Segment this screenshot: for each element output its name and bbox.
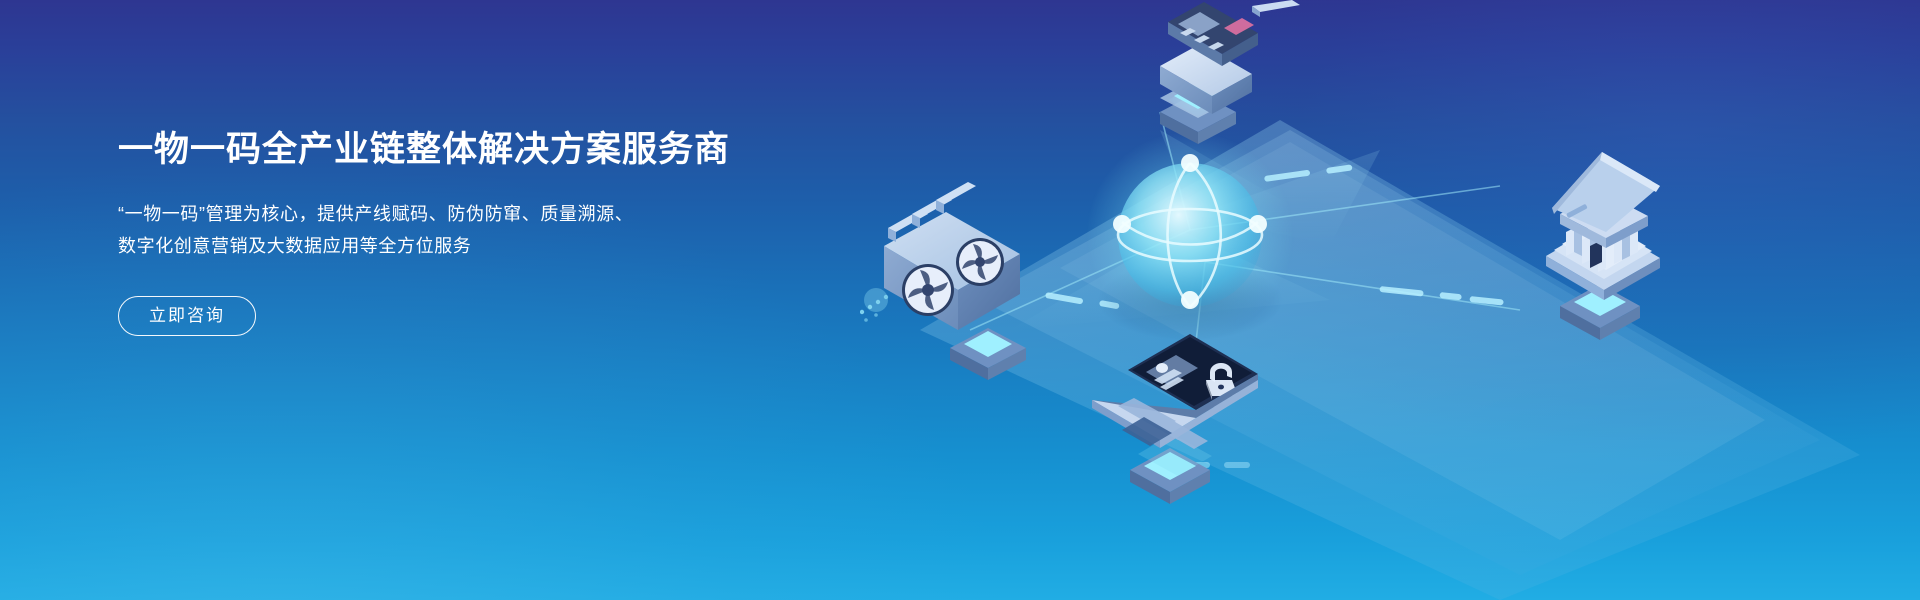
bank-building-icon — [1546, 152, 1660, 340]
hero-illustration — [860, 0, 1920, 600]
hero-subtitle-line-2: 数字化创意营销及大数据应用等全方位服务 — [118, 230, 838, 262]
airflow-dots — [860, 288, 888, 322]
hero-subtitle: “一物一码”管理为核心，提供产线赋码、防伪防窜、质量溯源、 数字化创意营销及大数… — [118, 198, 838, 262]
glowing-network-sphere — [1086, 131, 1294, 340]
hero-copy-block: 一物一码全产业链整体解决方案服务商 “一物一码”管理为核心，提供产线赋码、防伪防… — [118, 128, 838, 336]
consult-now-button[interactable]: 立即咨询 — [118, 296, 256, 336]
hero-banner: 一物一码全产业链整体解决方案服务商 “一物一码”管理为核心，提供产线赋码、防伪防… — [0, 0, 1920, 600]
hero-subtitle-line-1: “一物一码”管理为核心，提供产线赋码、防伪防窜、质量溯源、 — [118, 198, 838, 230]
isometric-platform — [920, 120, 1860, 600]
page-title: 一物一码全产业链整体解决方案服务商 — [118, 128, 838, 172]
server-fan-rack-icon — [860, 182, 1026, 380]
